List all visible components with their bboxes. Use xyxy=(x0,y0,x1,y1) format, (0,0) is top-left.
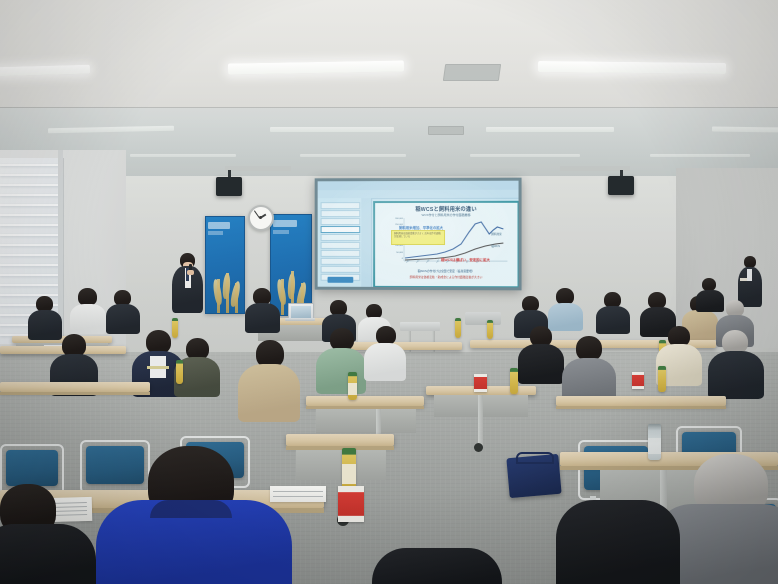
cart-tray xyxy=(400,322,440,331)
attendee-body xyxy=(364,343,406,381)
attendee-body xyxy=(245,303,280,333)
desk-edge xyxy=(0,392,150,395)
laptop-base xyxy=(285,318,315,321)
ceiling-light-far xyxy=(712,127,778,133)
desk-edge xyxy=(556,406,726,409)
ceiling-seam xyxy=(0,107,778,108)
attendee-body xyxy=(548,303,583,331)
desk xyxy=(556,396,726,406)
ceiling-light-far xyxy=(130,154,236,157)
bottle-tea xyxy=(658,366,666,392)
desk xyxy=(596,340,716,348)
ceiling-rail xyxy=(225,166,291,171)
slide-action-button[interactable] xyxy=(328,277,354,283)
chair[interactable] xyxy=(80,440,150,494)
attendee-body xyxy=(0,524,96,584)
ceiling-light-far xyxy=(486,127,614,132)
box-red xyxy=(632,372,644,389)
equipment-box xyxy=(465,312,501,325)
presentation-app[interactable]: 稲WCSと飼料用米の違い WCS作付と飼料用米の作付面積推移 300,000 2… xyxy=(318,181,519,288)
slide-canvas: 稲WCSと飼料用米の違い WCS作付と飼料用米の作付面積推移 300,000 2… xyxy=(373,201,518,288)
bottle-tea xyxy=(176,360,183,384)
ceiling-vent xyxy=(443,64,501,81)
desk-panel xyxy=(316,409,416,433)
wall-clock xyxy=(248,205,274,231)
attendee-body xyxy=(708,351,764,399)
bottle-tea xyxy=(487,320,493,339)
ceiling-speaker-icon xyxy=(608,176,634,195)
bottle-tea xyxy=(455,318,461,338)
bottle-water xyxy=(648,424,661,460)
svg-text:H27: H27 xyxy=(436,260,440,264)
bottle-tea xyxy=(172,318,178,338)
ceiling-vent-far xyxy=(428,126,464,135)
desk xyxy=(306,396,424,406)
handout-paper xyxy=(270,486,326,502)
slide-footer-1: 稲WCSの作付けは全国で安定（畜産需要増） xyxy=(379,269,513,273)
attendee-body xyxy=(238,364,300,422)
svg-text:H25: H25 xyxy=(426,259,431,263)
legend-item-2: 稲WCS xyxy=(491,244,500,248)
attendee-body xyxy=(106,304,140,334)
desk xyxy=(286,434,394,446)
banner-left xyxy=(205,216,245,314)
staff-shirt xyxy=(747,269,752,281)
ceiling-light-far xyxy=(300,154,406,157)
banner-right xyxy=(270,214,312,316)
attendee-body xyxy=(518,344,564,384)
jacket-collar xyxy=(150,500,232,518)
legend-item-1: 飼料用米 xyxy=(491,232,501,236)
desk xyxy=(0,382,150,392)
attendee-body xyxy=(372,548,502,584)
bag-handle xyxy=(516,452,554,464)
bottle-tea xyxy=(348,372,357,400)
slide-navigator-rail[interactable] xyxy=(361,198,372,287)
attendee-body xyxy=(556,500,680,584)
attendee-body xyxy=(70,304,106,334)
slide-note-red: 稲WCSは横ばい、安定的に拡大 xyxy=(441,257,490,262)
attendee-body xyxy=(28,310,62,340)
box-red xyxy=(474,374,487,392)
projection-screen: 稲WCSと飼料用米の違い WCS作付と飼料用米の作付面積推移 300,000 2… xyxy=(315,178,522,291)
ceiling-light-far xyxy=(650,154,750,157)
attendee-body xyxy=(596,306,630,334)
bottle-tea xyxy=(510,368,518,394)
slide-thumbnail-panel[interactable] xyxy=(318,198,363,287)
ceiling-light-far xyxy=(470,154,580,157)
caster xyxy=(474,443,483,452)
slide-highlight-text: 飼料用米は価格変動が大きく 近年は作付面積が急減している xyxy=(394,233,442,240)
slide-highlight-box: 飼料用米は価格変動が大きく 近年は作付面積が急減している xyxy=(391,230,445,245)
ceiling-upper xyxy=(0,0,778,112)
box-red xyxy=(338,486,364,522)
attendee-body xyxy=(316,348,366,394)
lanyard xyxy=(147,366,169,369)
ceiling-light-far xyxy=(270,127,394,132)
desk-panel xyxy=(296,450,386,480)
desk-leg xyxy=(478,395,483,445)
presenter-hand xyxy=(187,270,194,275)
ceiling-speaker-icon xyxy=(216,177,242,196)
staff-badge xyxy=(740,278,747,281)
attendee-body xyxy=(696,290,724,312)
photo-scene: 稲WCSと飼料用米の違い WCS作付と飼料用米の作付面積推移 300,000 2… xyxy=(0,0,778,584)
ceiling-light xyxy=(538,61,726,74)
slide-subtitle: WCS作付と飼料用米の作付面積推移 xyxy=(375,213,517,217)
slide-footer-2: 飼料用米は価格変動・助成金による作付面積変動が大きい xyxy=(379,275,513,279)
